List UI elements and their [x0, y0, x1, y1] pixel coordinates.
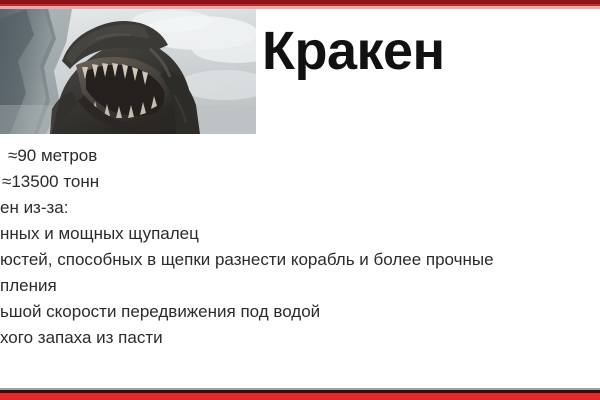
fact-line: хого запаха из пасти [0, 325, 600, 351]
fact-line: ен из-за: [0, 195, 600, 221]
fact-line: юстей, способных в щепки разнести корабл… [0, 247, 600, 273]
fact-line: ьшой скорости передвижения под водой [0, 299, 600, 325]
kraken-photo [0, 9, 256, 134]
kraken-photo-illustration [0, 9, 256, 134]
page-title: Кракен [262, 24, 445, 78]
bottom-divider-rule [0, 388, 600, 400]
fact-line: пления [0, 273, 600, 299]
poster-page: Кракен ≈90 метров ≈13500 тонн ен из-за: … [0, 0, 600, 400]
fact-list: ≈90 метров ≈13500 тонн ен из-за: нных и … [0, 143, 600, 351]
bottom-rule-red-band [0, 393, 600, 400]
fact-line: ≈90 метров [0, 143, 600, 169]
fact-line: ≈13500 тонн [0, 169, 600, 195]
top-divider-rule [0, 0, 600, 9]
fact-line: нных и мощных щупалец [0, 221, 600, 247]
